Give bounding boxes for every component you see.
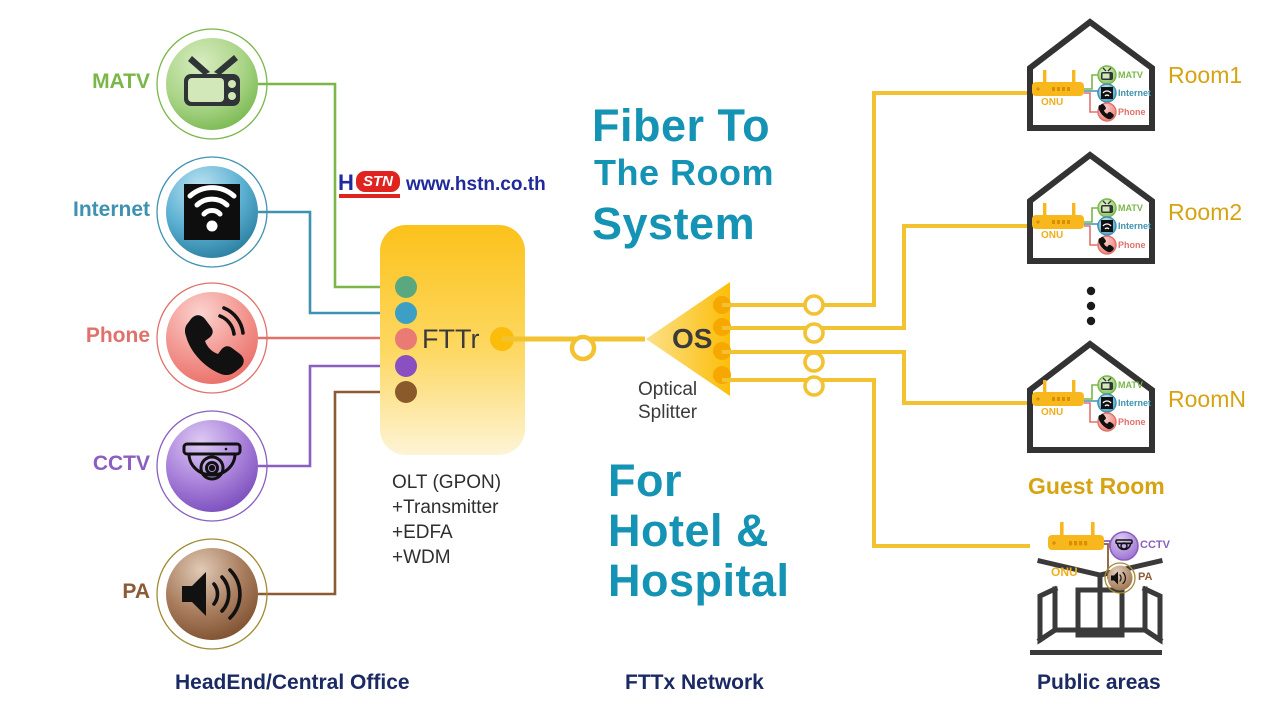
fttr-device-label: FTTr <box>422 324 479 355</box>
subtitle-line-1: For <box>608 455 682 507</box>
room1-service-icons <box>1098 66 1116 121</box>
roomn-service-icons <box>1098 376 1116 431</box>
caption-network: FTTx Network <box>625 671 764 695</box>
caption-headend: HeadEnd/Central Office <box>175 671 410 695</box>
caption-public-areas: Public areas <box>1037 671 1161 695</box>
diagram-canvas: MATV Internet Phone CCTV PA H STN www.hs… <box>0 0 1280 720</box>
website-link[interactable]: www.hstn.co.th <box>406 174 546 196</box>
logo-stn-text: STN <box>363 173 393 190</box>
roomn-service-label-matv: MATV <box>1118 380 1143 390</box>
line-pa <box>258 392 400 594</box>
olt-spec-line-1: OLT (GPON) <box>392 470 501 495</box>
source-label-pa: PA <box>0 580 150 604</box>
source-label-cctv: CCTV <box>0 452 150 476</box>
room-label-1: Room1 <box>1168 62 1242 89</box>
onu-label-2: ONU <box>1041 230 1063 241</box>
port-matv[interactable] <box>395 276 417 298</box>
public-service-label-pa: PA <box>1138 571 1152 583</box>
port-phone[interactable] <box>395 328 417 350</box>
room-label-n: RoomN <box>1168 386 1246 413</box>
title-line-1: Fiber To <box>592 100 770 152</box>
room1-service-label-phone: Phone <box>1118 107 1146 117</box>
room2-service-label-matv: MATV <box>1118 203 1143 213</box>
public-service-label-cctv: CCTV <box>1140 539 1170 551</box>
line-cctv <box>258 366 400 466</box>
onu-label-1: ONU <box>1041 97 1063 108</box>
fiber-connectors <box>805 296 823 395</box>
port-cctv[interactable] <box>395 355 417 377</box>
room-label-2: Room2 <box>1168 199 1242 226</box>
source-icon-group <box>157 29 267 649</box>
olt-spec-line-4: +WDM <box>392 545 451 570</box>
title-line-3: System <box>592 198 755 250</box>
room2-service-label-phone: Phone <box>1118 240 1146 250</box>
line-internet <box>258 212 400 313</box>
source-label-matv: MATV <box>0 70 150 94</box>
roomn-service-label-phone: Phone <box>1118 417 1146 427</box>
splitter-label: OS <box>672 323 712 355</box>
onu-label-n: ONU <box>1041 407 1063 418</box>
onu-device-public[interactable] <box>1048 522 1104 550</box>
guest-room-caption: Guest Room <box>1028 473 1165 500</box>
source-label-internet: Internet <box>0 198 150 222</box>
room1-service-label-matv: MATV <box>1118 70 1143 80</box>
pa-icon-circle[interactable] <box>166 548 258 640</box>
roomn-service-label-internet: Internet <box>1118 398 1151 408</box>
source-label-phone: Phone <box>0 324 150 348</box>
logo-letter-h: H <box>338 170 354 196</box>
port-pa[interactable] <box>395 381 417 403</box>
olt-spec-line-2: +Transmitter <box>392 495 498 520</box>
wifi-icon-dot <box>207 221 218 232</box>
rooms-ellipsis <box>1087 287 1095 325</box>
room1-service-label-internet: Internet <box>1118 88 1151 98</box>
subtitle-line-3: Hospital <box>608 555 790 607</box>
cctv-mini-icon <box>1110 532 1138 560</box>
public-area-floor-line <box>1030 650 1162 655</box>
room2-service-label-internet: Internet <box>1118 221 1151 231</box>
subtitle-line-2: Hotel & <box>608 505 769 557</box>
olt-spec-line-3: +EDFA <box>392 520 453 545</box>
onu-label-public: ONU <box>1051 565 1078 579</box>
source-connection-lines <box>258 84 400 594</box>
room2-service-icons <box>1098 199 1116 254</box>
port-internet[interactable] <box>395 302 417 324</box>
title-line-2: The Room <box>594 152 774 194</box>
phone-icon-circle[interactable] <box>166 292 258 384</box>
room-house-n[interactable] <box>1030 344 1152 450</box>
fiber-connector-trunk <box>572 337 594 359</box>
splitter-sub-line-1: Optical <box>638 378 697 402</box>
splitter-sub-line-2: Splitter <box>638 401 697 425</box>
